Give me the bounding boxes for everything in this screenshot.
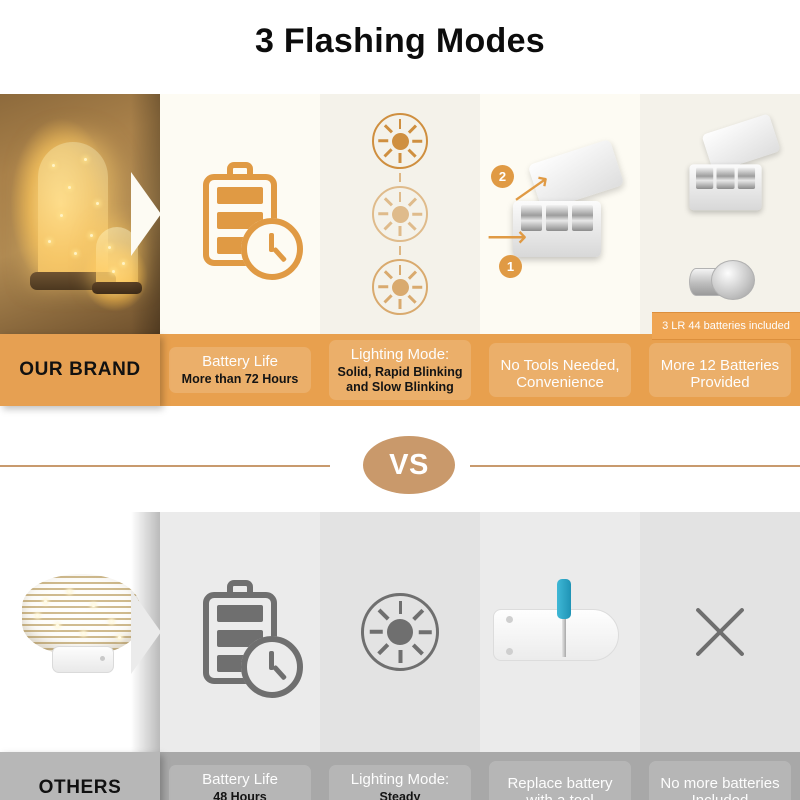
brand-pointer-chevron-icon xyxy=(131,172,160,256)
brand-panel-battery-life xyxy=(160,94,320,334)
cell-head: No Tools Needed, Convenience xyxy=(493,357,627,392)
sun-icon-slow-blink xyxy=(372,259,428,315)
fairy-light-coil-icon xyxy=(22,574,140,656)
others-panel-lighting-mode xyxy=(320,512,480,752)
brand-panel-more-batteries xyxy=(640,94,800,334)
brand-cell-lighting-mode: Lighting Mode: Solid, Rapid Blinking and… xyxy=(329,340,471,400)
others-feature-cells: Battery Life 48 Hours Lighting Mode: Ste… xyxy=(160,752,800,800)
battery-clock-icon xyxy=(203,580,277,684)
screwdriver-battery-pack-icon xyxy=(485,577,635,687)
battery-clock-icon xyxy=(203,162,277,266)
brand-panel-lighting-mode xyxy=(320,94,480,334)
others-hero-photo xyxy=(0,512,160,752)
battery-case-open-icon: ⟶ ⟶ 2 1 xyxy=(485,139,635,289)
step-badge-2: 2 xyxy=(491,165,514,188)
cell-sub: 48 Hours xyxy=(173,790,307,800)
vs-line-left xyxy=(0,465,330,467)
cell-head: No more batteries Included xyxy=(653,775,787,800)
single-sun-icon xyxy=(361,593,439,671)
infographic-page: 3 Flashing Modes xyxy=(0,0,800,800)
others-cell-replace-battery: Replace battery with a tool xyxy=(489,761,631,800)
brand-cell-battery-life: Battery Life More than 72 Hours xyxy=(169,347,311,393)
coin-cells-row xyxy=(521,205,593,231)
others-cell-no-batteries: No more batteries Included xyxy=(649,761,791,800)
vs-line-right xyxy=(470,465,800,467)
brand-cell-more-batteries: More 12 Batteries Provided xyxy=(649,343,791,398)
others-panel-battery-life xyxy=(160,512,320,752)
cell-head: Lighting Mode: xyxy=(333,346,467,363)
lr44-coin-cell-icon xyxy=(689,260,755,302)
others-comparison-block: OTHERS Battery Life 48 Hours Lighting Mo… xyxy=(0,512,800,752)
brand-cell-no-tools: No Tools Needed, Convenience xyxy=(489,343,631,398)
brand-panel-no-tools: ⟶ ⟶ 2 1 xyxy=(480,94,640,334)
batteries-included-banner: 3 LR 44 batteries included xyxy=(652,312,800,340)
brand-name-label: OUR BRAND xyxy=(0,334,160,406)
screwdriver-handle-icon xyxy=(557,579,571,619)
cell-head: Battery Life xyxy=(173,353,307,370)
cell-head: Replace battery with a tool xyxy=(493,775,627,800)
sun-icon-rapid-blink xyxy=(372,186,428,242)
battery-pack-body xyxy=(493,609,619,661)
x-mark-icon xyxy=(687,599,753,665)
brand-hero-photo xyxy=(0,94,160,334)
vs-badge: VS xyxy=(363,436,455,494)
others-cell-lighting-mode: Lighting Mode: Steady xyxy=(329,765,471,800)
cell-sub: Solid, Rapid Blinking and Slow Blinking xyxy=(333,365,467,394)
sun-icon-solid xyxy=(372,113,428,169)
others-name-label: OTHERS xyxy=(0,752,160,800)
brand-label-bar: OUR BRAND Battery Life More than 72 Hour… xyxy=(0,334,800,406)
step-badge-1: 1 xyxy=(499,255,522,278)
three-sun-modes-icon xyxy=(372,113,428,315)
sun-connector xyxy=(399,173,401,182)
cell-head: Battery Life xyxy=(173,771,307,788)
others-label-bar: OTHERS Battery Life 48 Hours Lighting Mo… xyxy=(0,752,800,800)
others-pointer-chevron-icon xyxy=(131,590,160,674)
coin-cells-row xyxy=(696,168,755,189)
battery-pack-icon xyxy=(52,646,114,673)
cell-head: More 12 Batteries Provided xyxy=(653,357,787,392)
others-panel-row xyxy=(0,512,800,752)
others-cell-battery-life: Battery Life 48 Hours xyxy=(169,765,311,800)
cell-sub: More than 72 Hours xyxy=(173,372,307,387)
battery-case-with-coin-cells-icon xyxy=(645,114,795,314)
others-panel-no-batteries xyxy=(640,512,800,752)
brand-panel-row: ⟶ ⟶ 2 1 xyxy=(0,94,800,334)
sun-connector xyxy=(399,246,401,255)
brand-comparison-block: ⟶ ⟶ 2 1 xyxy=(0,94,800,334)
others-panel-replace-battery xyxy=(480,512,640,752)
screwdriver-shaft-icon xyxy=(562,617,566,657)
cell-sub: Steady xyxy=(333,790,467,800)
step-1-arrow-icon: ⟶ xyxy=(487,223,527,251)
battery-case-closed-icon xyxy=(667,114,790,237)
page-title: 3 Flashing Modes xyxy=(0,22,800,61)
brand-feature-cells: Battery Life More than 72 Hours Lighting… xyxy=(160,334,800,406)
cell-head: Lighting Mode: xyxy=(333,771,467,788)
